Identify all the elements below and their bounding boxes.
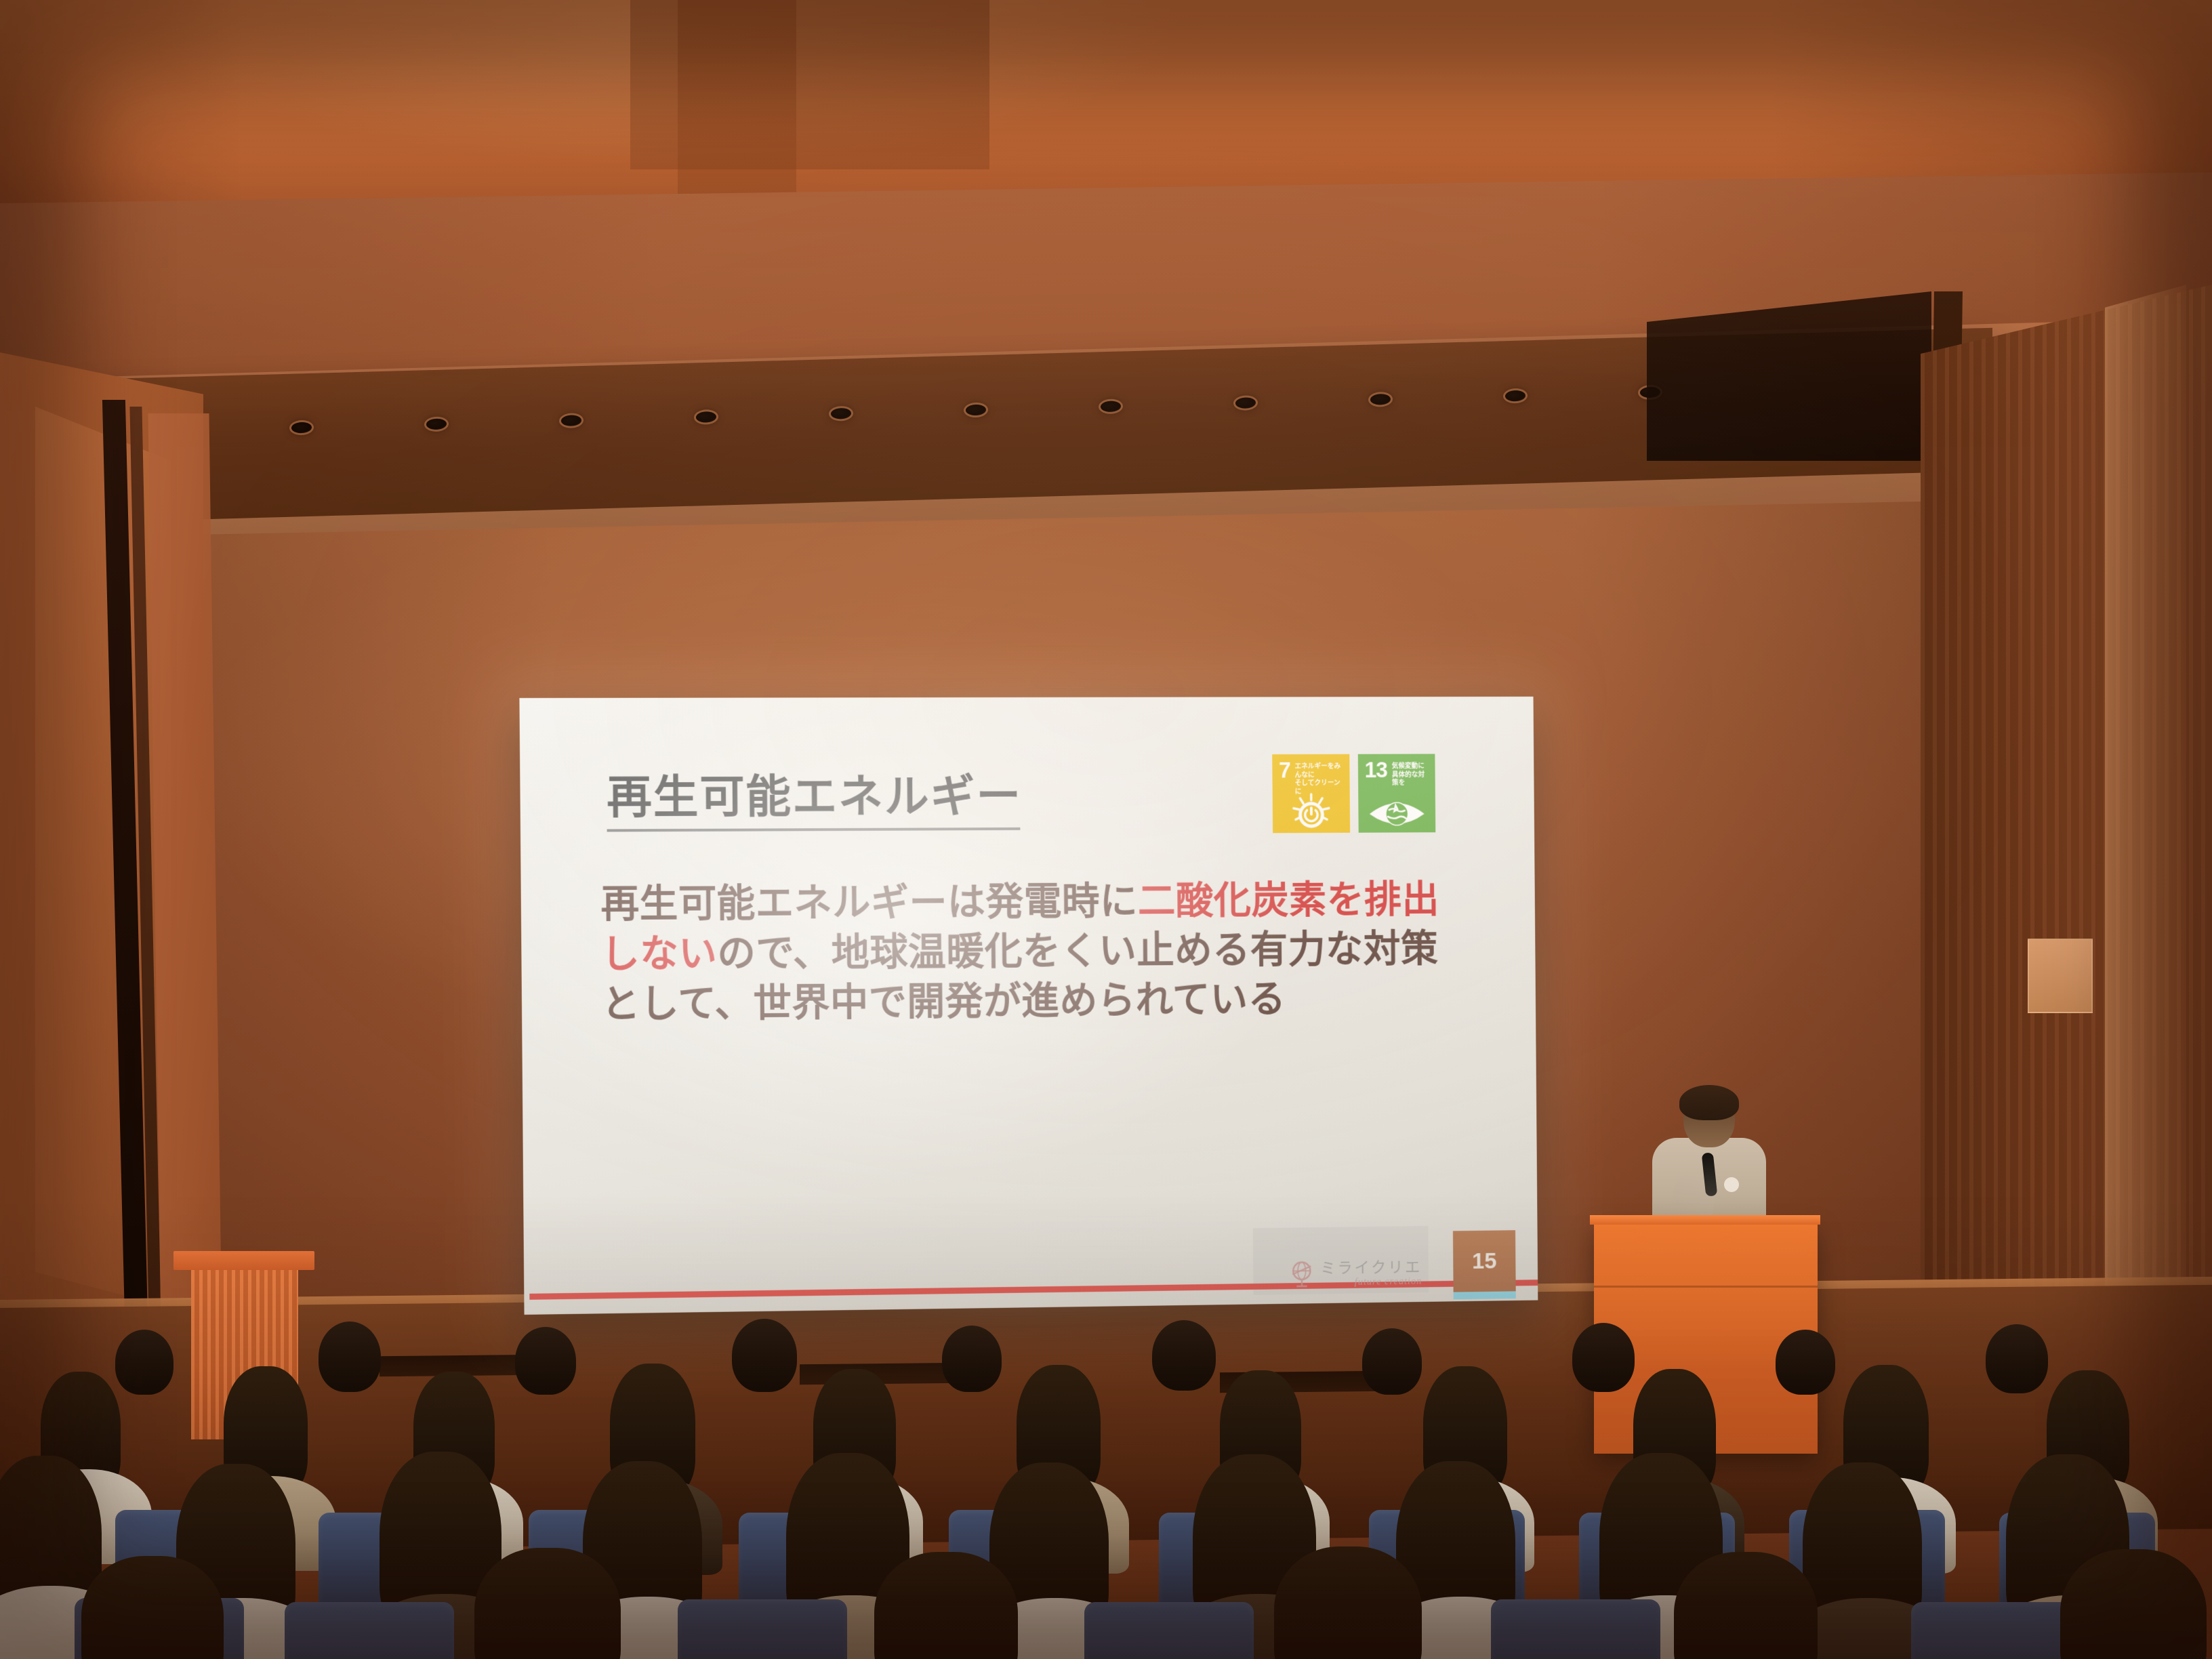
sdg-goal-13-icon: 13 気候変動に 具体的な対策を xyxy=(1358,754,1435,832)
lectern-top xyxy=(173,1251,314,1270)
brand-text: ミライクリエ future creation xyxy=(1320,1259,1422,1288)
podium-ledge xyxy=(1590,1215,1820,1225)
sun-power-icon xyxy=(1273,789,1350,832)
slide-page-number: 15 xyxy=(1453,1230,1516,1292)
audience-head xyxy=(1362,1328,1422,1395)
speaker-name-badge xyxy=(1724,1177,1739,1192)
audience-head xyxy=(732,1319,797,1392)
slide-line1-plain: 再生可能エネルギーは発電時に xyxy=(600,880,1138,926)
projection-screen: 再生可能エネルギー 7 エネルギーをみんなに そしてクリーンに xyxy=(519,697,1538,1315)
sdg-goal-13-label: 気候変動に 具体的な対策を xyxy=(1392,760,1430,787)
slide-line2-plain: ので、地球温暖化をくい止める有力な対策 xyxy=(717,928,1438,975)
slide-body-line-1: 再生可能エネルギーは発電時に二酸化炭素を排出 xyxy=(600,875,1475,930)
audience-head xyxy=(319,1322,381,1392)
downlight-icon xyxy=(831,408,851,419)
audience-head xyxy=(515,1327,576,1395)
downlight-icon xyxy=(426,418,447,430)
auditorium-seat xyxy=(1084,1602,1254,1659)
downlight-icon xyxy=(291,422,312,434)
audience-head xyxy=(1572,1323,1635,1392)
audience-hair xyxy=(474,1548,621,1659)
brand-logo: ミライクリエ future creation xyxy=(1289,1258,1422,1289)
right-wall-access-panel xyxy=(2028,939,2093,1013)
audience-head xyxy=(1776,1330,1835,1395)
speaker-hair xyxy=(1679,1085,1739,1120)
downlight-icon xyxy=(1370,394,1391,405)
auditorium-seat xyxy=(1491,1599,1660,1659)
slide-line2-highlight: しない xyxy=(601,932,718,976)
brand-name-jp: ミライクリエ xyxy=(1320,1259,1422,1276)
audience-area xyxy=(0,1307,2212,1659)
presentation-slide: 再生可能エネルギー 7 エネルギーをみんなに そしてクリーンに xyxy=(519,697,1538,1315)
sdg-icon-row: 7 エネルギーをみんなに そしてクリーンに xyxy=(1272,754,1435,833)
audience-hair xyxy=(81,1556,224,1659)
sdg-goal-13-header: 13 気候変動に 具体的な対策を xyxy=(1358,754,1435,787)
audience-head xyxy=(942,1326,1002,1392)
downlight-icon xyxy=(966,405,986,416)
auditorium-scene: 再生可能エネルギー 7 エネルギーをみんなに そしてクリーンに xyxy=(0,0,2212,1659)
audience-head xyxy=(1152,1320,1216,1391)
slide-body-text: 再生可能エネルギーは発電時に二酸化炭素を排出 しないので、地球温暖化をくい止める… xyxy=(600,875,1476,1030)
brand-name-en: future creation xyxy=(1320,1276,1422,1288)
downlight-icon xyxy=(561,415,581,426)
sdg-goal-7-icon: 7 エネルギーをみんなに そしてクリーンに xyxy=(1272,754,1350,833)
auditorium-seat xyxy=(1911,1602,2081,1659)
downlight-icon xyxy=(696,411,716,423)
right-wall-highlight xyxy=(2105,285,2186,1430)
audience-hair xyxy=(874,1552,1018,1659)
downlight-icon xyxy=(1101,401,1121,412)
auditorium-seat xyxy=(678,1599,847,1659)
slide-body-line-3: として、世界中で開発が進められている xyxy=(601,973,1476,1029)
audience-head xyxy=(1986,1324,2048,1393)
slide-line1-highlight: 二酸化炭素を排出 xyxy=(1138,878,1439,923)
auditorium-seat xyxy=(285,1602,454,1659)
audience-head xyxy=(115,1330,173,1395)
audience-hair xyxy=(1274,1547,1422,1659)
ceiling-soffit-rib xyxy=(678,0,796,203)
sdg-goal-7-number: 7 xyxy=(1279,761,1290,780)
audience-hair xyxy=(2060,1549,2207,1659)
slide-title-underline xyxy=(607,827,1021,832)
slide-title-block: 再生可能エネルギー xyxy=(607,771,1075,832)
downlight-icon xyxy=(1505,390,1525,402)
slide-body-line-2: しないので、地球温暖化をくい止める有力な対策 xyxy=(601,924,1476,979)
downlight-icon xyxy=(1235,397,1256,409)
slide-line3-plain: として、世界中で開発が進められている xyxy=(601,978,1286,1026)
sdg-goal-13-number: 13 xyxy=(1365,760,1388,779)
globe-stand-icon xyxy=(1289,1259,1315,1289)
slide-title: 再生可能エネルギー xyxy=(607,771,1075,823)
left-wall-strip xyxy=(148,413,222,1335)
audience-hair xyxy=(1674,1552,1818,1659)
eye-globe-icon xyxy=(1358,788,1435,831)
podium-seam xyxy=(1594,1286,1818,1288)
